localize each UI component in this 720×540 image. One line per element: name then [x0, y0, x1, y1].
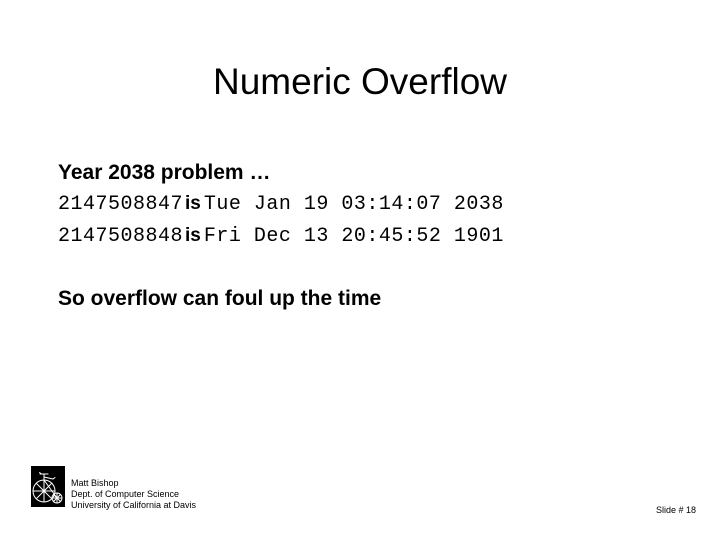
footer-institution: University of California at Davis: [71, 500, 196, 511]
formatted-date: Fri Dec 13 20:45:52 1901: [204, 225, 504, 248]
slide-body: Year 2038 problem … 2147508847isTue Jan …: [58, 157, 678, 314]
penny-farthing-bicycle-icon: [31, 466, 65, 507]
footer-department: Dept. of Computer Science: [71, 489, 196, 500]
presentation-slide: Numeric Overflow Year 2038 problem … 214…: [0, 0, 720, 540]
code-line: 2147508848isFri Dec 13 20:45:52 1901: [58, 220, 678, 252]
formatted-date: Tue Jan 19 03:14:07 2038: [204, 193, 504, 216]
slide-footer: Matt Bishop Dept. of Computer Science Un…: [31, 466, 196, 511]
connector-word: is: [183, 193, 204, 214]
closing-line: So overflow can foul up the time: [58, 283, 678, 314]
page-title: Numeric Overflow: [0, 60, 720, 104]
footer-author: Matt Bishop: [71, 478, 196, 489]
timestamp-value: 2147508847: [58, 193, 183, 216]
intro-line: Year 2038 problem …: [58, 157, 678, 188]
connector-word: is: [183, 225, 204, 246]
slide-number: Slide # 18: [656, 505, 696, 516]
code-line: 2147508847isTue Jan 19 03:14:07 2038: [58, 188, 678, 220]
body-spacer: [58, 252, 678, 283]
timestamp-value: 2147508848: [58, 225, 183, 248]
footer-attribution: Matt Bishop Dept. of Computer Science Un…: [71, 466, 196, 511]
